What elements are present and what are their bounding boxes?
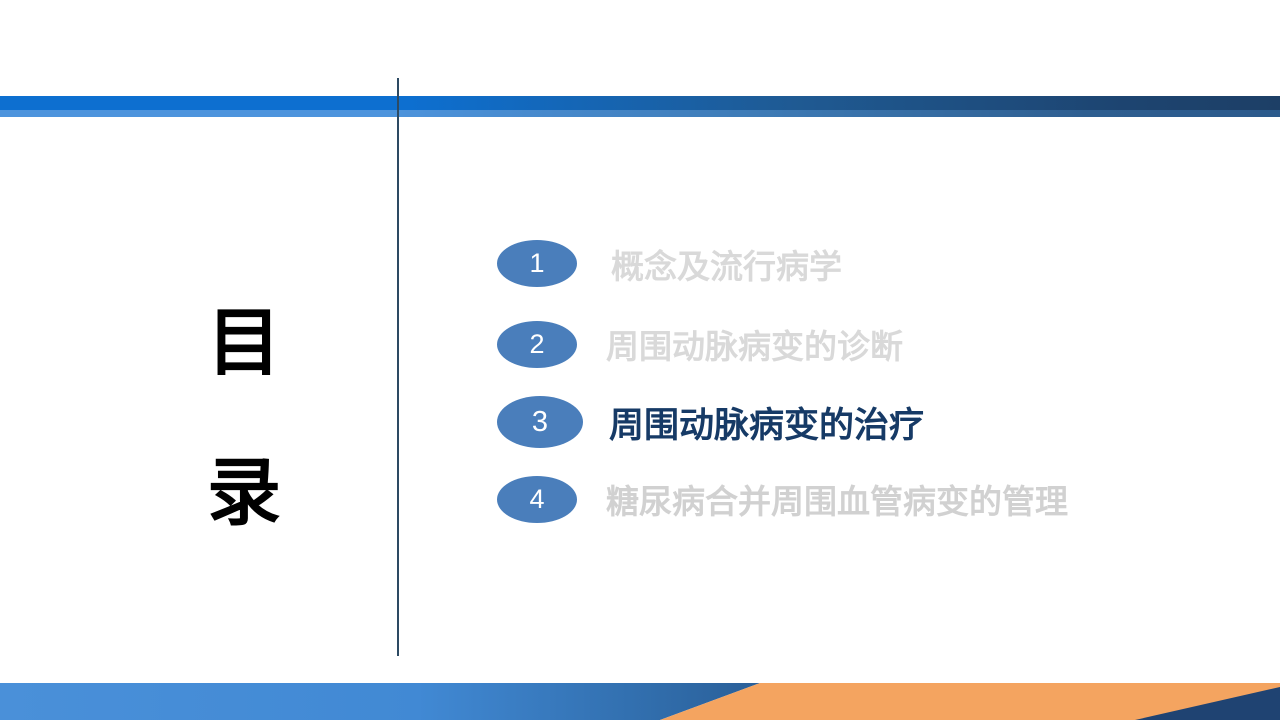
agenda-label-2: 周围动脉病变的诊断 [606,320,903,368]
agenda-number-bubble-1: 1 [497,240,577,287]
slide-canvas: 目 录 1 概念及流行病学 2 周围动脉病变的诊断 3 周围动脉病变的治疗 4 [0,0,1280,720]
top-accent-bar-primary [0,96,1280,110]
agenda-number-4: 4 [529,484,544,515]
agenda-list: 1 概念及流行病学 2 周围动脉病变的诊断 3 周围动脉病变的治疗 4 糖尿病合… [497,222,1217,537]
agenda-item-2[interactable]: 2 周围动脉病变的诊断 [497,305,1217,383]
vertical-divider [397,78,399,656]
agenda-number-2: 2 [529,329,544,360]
bottom-blue-band [0,683,760,720]
bottom-decoration [0,683,1280,720]
agenda-number-1: 1 [529,248,544,279]
top-accent-bar-secondary [0,110,1280,117]
page-title: 目 录 [170,268,320,568]
agenda-label-1: 概念及流行病学 [611,240,842,288]
agenda-number-bubble-3: 3 [497,396,583,448]
agenda-number-3: 3 [532,406,548,439]
agenda-label-3: 周围动脉病变的治疗 [609,397,924,448]
agenda-item-4[interactable]: 4 糖尿病合并周围血管病变的管理 [497,461,1217,537]
page-title-char-2: 录 [170,418,320,568]
agenda-number-bubble-2: 2 [497,321,577,368]
page-title-char-1: 目 [170,268,320,418]
agenda-item-1[interactable]: 1 概念及流行病学 [497,222,1217,305]
agenda-label-4: 糖尿病合并周围血管病变的管理 [606,475,1068,523]
agenda-number-bubble-4: 4 [497,476,577,523]
agenda-item-3[interactable]: 3 周围动脉病变的治疗 [497,383,1217,461]
